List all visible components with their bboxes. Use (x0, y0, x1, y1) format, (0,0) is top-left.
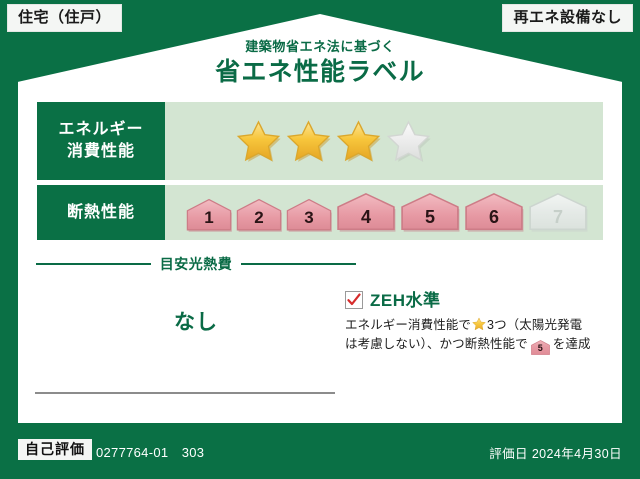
insulation-label-text: 断熱性能 (67, 202, 135, 224)
zeh-desc-stars: 3つ（太陽光発電 (487, 318, 582, 332)
insulation-level-7: 7 (527, 192, 589, 233)
energy-performance-label: エネルギー 消費性能 (37, 102, 165, 180)
insulation-level-4: 4 (335, 192, 397, 233)
energy-label-line1: エネルギー (58, 119, 143, 141)
insulation-level-number: 5 (425, 207, 435, 233)
insulation-level-number: 6 (489, 207, 499, 233)
insulation-performance-value: 1234567 (165, 185, 603, 240)
insulation-level-3: 3 (285, 198, 333, 233)
insulation-level-6: 6 (463, 192, 525, 233)
insulation-performance-row: 断熱性能 1234567 (37, 185, 603, 240)
zeh-desc-part1: エネルギー消費性能で (345, 318, 471, 332)
insulation-level-number: 1 (204, 208, 213, 233)
check-icon (347, 293, 361, 307)
utility-cost-rule (35, 392, 335, 394)
insulation-level-number: 4 (361, 207, 371, 233)
zeh-description: エネルギー消費性能で3つ（太陽光発電 は考慮しない）、かつ断熱性能で5を達成 (345, 316, 607, 355)
label-card-inner: 建築物省エネ法に基づく 省エネ性能ラベル エネルギー 消費性能 断熱性能 123… (18, 14, 622, 423)
zeh-desc-part2: は考慮しない）、かつ断熱性能で (345, 337, 528, 351)
insulation-badge-number: 5 (531, 340, 550, 357)
page-title: 省エネ性能ラベル (18, 60, 622, 85)
insulation-performance-label: 断熱性能 (37, 185, 165, 240)
zeh-header: ZEH水準 (345, 291, 607, 309)
divider-right (241, 263, 356, 265)
utility-cost-heading: 目安光熱費 (36, 254, 356, 274)
insulation-level-2: 2 (235, 198, 283, 233)
star-icon-filled (235, 118, 282, 165)
energy-label-line2: 消費性能 (67, 141, 135, 163)
star-rating (235, 118, 432, 165)
energy-performance-row: エネルギー 消費性能 (37, 102, 603, 180)
footer: 自己評価 0277764-01 303 評価日 2024年4月30日 (0, 427, 640, 479)
evaluation-id: 0277764-01 303 (96, 442, 204, 461)
zeh-block: ZEH水準 エネルギー消費性能で3つ（太陽光発電 は考慮しない）、かつ断熱性能で… (345, 291, 607, 355)
star-icon-empty (385, 118, 432, 165)
zeh-desc-part3: を達成 (553, 337, 591, 351)
zeh-title: ZEH水準 (370, 292, 441, 309)
divider-left (36, 263, 151, 265)
evaluation-type-badge: 自己評価 (18, 439, 92, 460)
renewable-equipment-tag: 再エネ設備なし (502, 4, 633, 32)
insulation-level-number: 7 (553, 207, 563, 233)
star-icon-filled (285, 118, 332, 165)
building-type-tag: 住宅（住戸） (7, 4, 122, 32)
energy-performance-value (165, 102, 603, 180)
insulation-badge-icon: 5 (531, 340, 550, 355)
evaluation-date: 評価日 2024年4月30日 (489, 443, 622, 462)
zeh-checkbox[interactable] (345, 291, 363, 309)
insulation-level-number: 2 (254, 208, 263, 233)
title-block: 建築物省エネ法に基づく 省エネ性能ラベル (18, 40, 622, 85)
insulation-level-number: 3 (304, 208, 313, 233)
star-icon-filled (335, 118, 382, 165)
title-subtitle: 建築物省エネ法に基づく (18, 40, 622, 53)
label-card: 建築物省エネ法に基づく 省エネ性能ラベル エネルギー 消費性能 断熱性能 123… (18, 14, 622, 423)
insulation-level-1: 1 (185, 198, 233, 233)
utility-cost-value: なし (36, 306, 356, 336)
insulation-level-5: 5 (399, 192, 461, 233)
utility-cost-heading-text: 目安光熱費 (151, 254, 242, 274)
star-icon (472, 317, 486, 331)
insulation-scale: 1234567 (185, 192, 589, 233)
